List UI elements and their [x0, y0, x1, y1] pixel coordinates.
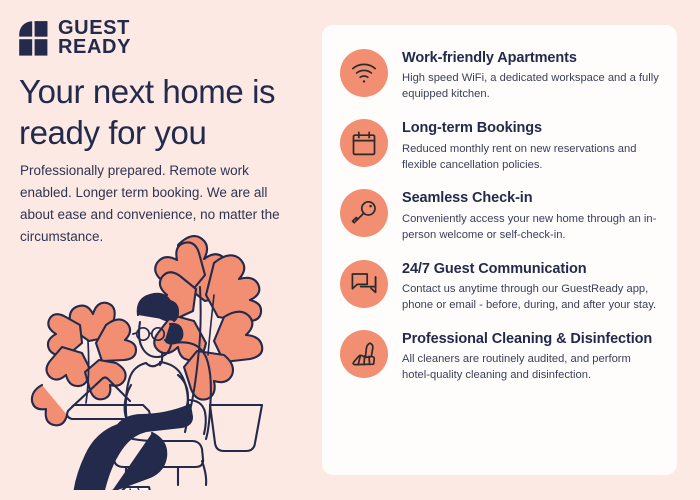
promo-page: GUEST READY Your next home is ready for … [0, 0, 700, 500]
broom-icon [340, 330, 388, 378]
wifi-icon [340, 49, 388, 97]
feature-description: Contact us anytime through our GuestRead… [402, 282, 659, 314]
brand-logo[interactable]: GUEST READY [18, 19, 131, 58]
feature-body: 24/7 Guest Communication Contact us anyt… [402, 258, 659, 314]
feature-list: Work-friendly Apartments High speed WiFi… [340, 47, 659, 384]
feature-item-work-friendly-apartments[interactable]: Work-friendly Apartments High speed WiFi… [340, 47, 659, 103]
feature-description: Reduced monthly rent on new reservations… [402, 142, 659, 174]
guestready-quadrant-logo-icon [18, 20, 49, 57]
feature-item-seamless-check-in[interactable]: Seamless Check-in Conveniently access yo… [340, 187, 659, 243]
calendar-icon [340, 119, 388, 167]
brand-name-line2: READY [58, 38, 131, 57]
page-title: Your next home is ready for you [19, 72, 309, 154]
feature-item-long-term-bookings[interactable]: Long-term Bookings Reduced monthly rent … [340, 117, 659, 173]
feature-body: Long-term Bookings Reduced monthly rent … [402, 117, 659, 173]
hero-column: GUEST READY Your next home is ready for … [0, 0, 312, 500]
woman-with-laptop-in-armchair-with-plants-illustration [28, 225, 296, 490]
feature-title: 24/7 Guest Communication [402, 261, 659, 278]
feature-title: Work-friendly Apartments [402, 50, 659, 67]
features-card: Work-friendly Apartments High speed WiFi… [322, 25, 677, 475]
feature-description: Conveniently access your new home throug… [402, 212, 659, 244]
feature-title: Long-term Bookings [402, 120, 659, 137]
feature-title: Professional Cleaning & Disinfection [402, 331, 659, 348]
feature-item-professional-cleaning[interactable]: Professional Cleaning & Disinfection All… [340, 328, 659, 384]
feature-body: Professional Cleaning & Disinfection All… [402, 328, 659, 384]
feature-item-guest-communication[interactable]: 24/7 Guest Communication Contact us anyt… [340, 258, 659, 314]
key-icon [340, 189, 388, 237]
feature-description: All cleaners are routinely audited, and … [402, 352, 659, 384]
feature-description: High speed WiFi, a dedicated workspace a… [402, 71, 659, 103]
feature-body: Work-friendly Apartments High speed WiFi… [402, 47, 659, 103]
brand-wordmark: GUEST READY [58, 19, 131, 58]
chat-bubbles-icon [340, 260, 388, 308]
feature-body: Seamless Check-in Conveniently access yo… [402, 187, 659, 243]
feature-title: Seamless Check-in [402, 190, 659, 207]
